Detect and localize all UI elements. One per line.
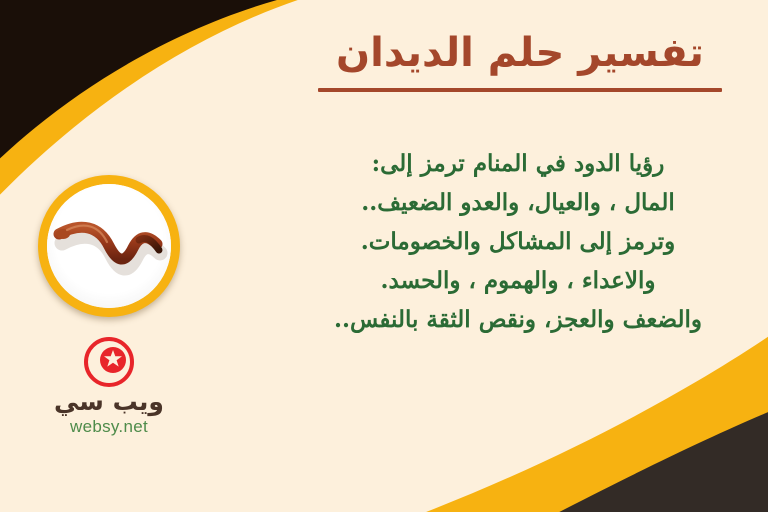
page-title: تفسير حلم الديدان bbox=[310, 28, 730, 78]
amber-curved-band-bottom-right bbox=[400, 330, 768, 512]
brand-domain: websy.net bbox=[24, 417, 194, 437]
dark-curved-band-top-left bbox=[0, 0, 318, 168]
body-text-block: رؤيا الدود في المنام ترمز إلى: المال ، و… bbox=[294, 152, 742, 331]
title-underline-rule bbox=[318, 88, 722, 92]
medallion-photo-field bbox=[47, 184, 171, 308]
body-line: وترمز إلى المشاكل والخصومات. bbox=[294, 230, 742, 253]
poster-canvas: ويب سي websy.net تفسير حلم الديدان رؤيا … bbox=[0, 0, 768, 512]
body-line: المال ، والعيال، والعدو الضعيف.. bbox=[294, 191, 742, 214]
body-line: والضعف والعجز، ونقص الثقة بالنفس.. bbox=[294, 308, 742, 331]
earthworm-icon bbox=[47, 184, 171, 308]
body-line: رؤيا الدود في المنام ترمز إلى: bbox=[294, 152, 742, 175]
title-block: تفسير حلم الديدان bbox=[310, 28, 730, 92]
brand-arabic-name: ويب سي bbox=[24, 389, 194, 415]
body-line: والاعداء ، والهموم ، والحسد. bbox=[294, 269, 742, 292]
dark-curved-wedge-bottom-right bbox=[540, 408, 768, 512]
crescent-star-circle-icon bbox=[83, 336, 135, 388]
brand-logo[interactable]: ويب سي websy.net bbox=[24, 336, 194, 437]
worm-image-medallion bbox=[38, 175, 180, 317]
amber-curved-band-top-left bbox=[0, 0, 330, 205]
